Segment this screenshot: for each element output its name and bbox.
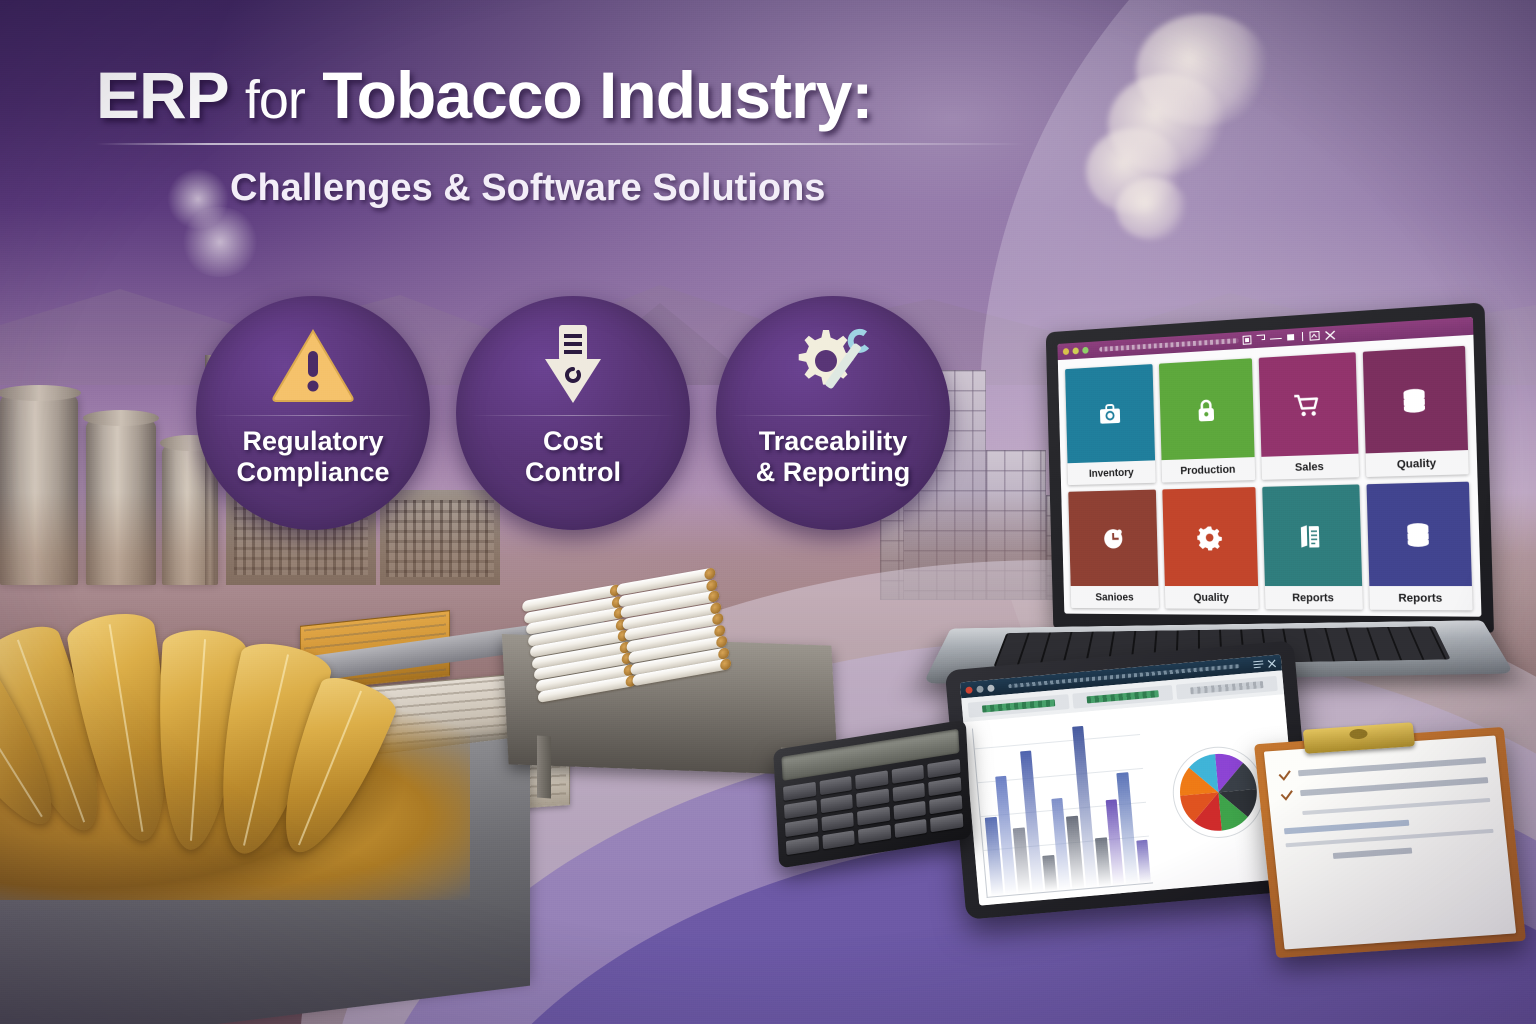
badge-label: Regulatory Compliance — [205, 426, 420, 488]
warning-triangle-icon — [271, 322, 355, 408]
calculator-key-17[interactable] — [858, 825, 891, 844]
maximize-icon[interactable] — [1287, 332, 1296, 342]
checklist-line — [1300, 777, 1488, 796]
calculator-key-19[interactable] — [930, 813, 963, 832]
erp-tile-sanioes-4[interactable]: Sanioes — [1068, 490, 1159, 609]
calculator-key-10[interactable] — [785, 818, 818, 837]
tablet-dashboard — [963, 694, 1300, 905]
erp-tile-reports-7[interactable]: Reports — [1366, 482, 1472, 611]
erp-tile-inventory-0[interactable]: Inventory — [1065, 364, 1156, 485]
traffic-light-1[interactable] — [1063, 348, 1069, 355]
checkmark-icon — [1280, 788, 1294, 800]
erp-tile-label: Sales — [1261, 454, 1359, 480]
tablet-traffic-light-2[interactable] — [976, 685, 984, 693]
checklist-clipboard — [1254, 727, 1526, 958]
download-arrow-document-icon — [535, 322, 611, 408]
calculator-key-0[interactable] — [783, 782, 816, 801]
clock-icon — [1068, 490, 1158, 586]
header-block: ERP for Tobacco Industry: Challenges & S… — [96, 62, 1056, 210]
laptop-lid: InventoryProductionSalesQualitySanioesQu… — [1046, 302, 1494, 632]
document-icon — [1262, 484, 1362, 586]
calculator-key-4[interactable] — [928, 759, 961, 778]
tobacco-leaves-bin — [0, 600, 530, 1020]
erp-tile-quality-5[interactable]: Quality — [1163, 487, 1259, 609]
calculator-key-6[interactable] — [820, 794, 853, 813]
title-connector: for — [245, 70, 305, 130]
window-controls[interactable] — [1243, 329, 1336, 345]
bar-c9 — [1095, 837, 1111, 887]
page-subtitle: Challenges & Software Solutions — [230, 167, 1056, 210]
minimize-icon[interactable] — [1256, 334, 1265, 344]
erp-module-tiles: InventoryProductionSalesQualitySanioesQu… — [1058, 335, 1482, 617]
calculator-key-9[interactable] — [929, 777, 962, 796]
tablet-traffic-light-3[interactable] — [987, 684, 995, 692]
calculator-key-3[interactable] — [891, 765, 924, 784]
laptop-screen: InventoryProductionSalesQualitySanioesQu… — [1057, 317, 1481, 617]
badge-label-line1: Regulatory — [205, 426, 420, 457]
erp-tile-label: Quality — [1165, 586, 1258, 609]
badge-cost-control[interactable]: Cost Control — [456, 296, 690, 530]
badge-traceability-reporting[interactable]: Traceability & Reporting — [716, 296, 950, 530]
checklist-line — [1284, 820, 1409, 835]
app-icon[interactable] — [1309, 331, 1319, 341]
erp-tile-label: Production — [1162, 457, 1255, 482]
badge-label-line2: & Reporting — [725, 457, 940, 488]
divider-icon — [1300, 332, 1304, 341]
badge-label: Traceability & Reporting — [725, 426, 940, 488]
tablet-menu-icon[interactable] — [1253, 660, 1264, 669]
checklist-line — [1298, 757, 1486, 776]
erp-tile-production-1[interactable]: Production — [1159, 358, 1255, 482]
erp-tile-quality-3[interactable]: Quality — [1363, 346, 1469, 477]
calculator-key-16[interactable] — [822, 830, 855, 849]
restore-icon[interactable] — [1243, 335, 1252, 345]
tablet-screen — [960, 654, 1300, 905]
erp-tile-label: Reports — [1264, 586, 1362, 610]
page-title: ERP for Tobacco Industry: — [96, 62, 1056, 129]
erp-tile-label: Quality — [1365, 450, 1468, 477]
bar-c5 — [1042, 855, 1057, 892]
traffic-light-2[interactable] — [1072, 347, 1078, 354]
erp-tile-label: Sanioes — [1071, 586, 1160, 608]
clipboard-paper — [1264, 735, 1516, 949]
calculator-key-14[interactable] — [929, 795, 962, 814]
tablet-close-icon[interactable] — [1267, 658, 1277, 668]
calculator-key-15[interactable] — [786, 836, 819, 855]
calculator-key-11[interactable] — [821, 812, 854, 831]
calculator-key-13[interactable] — [893, 801, 926, 820]
gear-icon — [1163, 487, 1258, 586]
traffic-light-3[interactable] — [1082, 347, 1088, 354]
badge-label-line2: Compliance — [205, 457, 420, 488]
erp-tile-sales-2[interactable]: Sales — [1258, 352, 1359, 480]
database-icon — [1363, 346, 1468, 454]
badge-label-line2: Control — [465, 457, 680, 488]
tablet-traffic-light-1[interactable] — [965, 686, 973, 694]
close-icon[interactable] — [1324, 329, 1335, 340]
checklist-line — [1333, 848, 1413, 859]
title-rest: Tobacco Industry: — [322, 58, 872, 132]
calculator-key-1[interactable] — [819, 776, 852, 795]
badge-label: Cost Control — [465, 426, 680, 488]
bar-c12 — [1136, 840, 1151, 884]
lock-icon — [1159, 358, 1254, 460]
calculator-key-8[interactable] — [892, 783, 925, 802]
calculator-key-2[interactable] — [855, 770, 888, 789]
badge-regulatory-compliance[interactable]: Regulatory Compliance — [196, 296, 430, 530]
badge-label-line1: Cost — [465, 426, 680, 457]
checkbox-empty-icon — [1282, 808, 1296, 820]
checkmark-icon — [1278, 768, 1292, 780]
dashboard-bar-chart — [972, 714, 1153, 898]
database-icon — [1366, 482, 1472, 586]
poster-canvas: ERP for Tobacco Industry: Challenges & S… — [0, 0, 1536, 1024]
calculator-key-7[interactable] — [856, 788, 889, 807]
separator-icon — [1270, 333, 1282, 343]
title-divider — [96, 143, 1026, 145]
calculator-key-12[interactable] — [857, 807, 890, 826]
badge-label-line1: Traceability — [725, 426, 940, 457]
challenge-badges: Regulatory Compliance Cost Control — [196, 296, 950, 530]
laptop-device: InventoryProductionSalesQualitySanioesQu… — [940, 318, 1500, 698]
briefcase-icon — [1065, 364, 1155, 463]
gear-wrench-icon — [785, 322, 881, 408]
erp-tile-reports-6[interactable]: Reports — [1262, 484, 1363, 609]
calculator-key-5[interactable] — [784, 800, 817, 819]
checklist-line — [1302, 797, 1490, 814]
erp-tile-label: Inventory — [1068, 460, 1156, 485]
calculator-key-18[interactable] — [894, 819, 927, 838]
erp-tile-label: Reports — [1369, 586, 1473, 610]
title-main: ERP — [96, 58, 228, 132]
shopping-cart-icon — [1258, 352, 1358, 457]
